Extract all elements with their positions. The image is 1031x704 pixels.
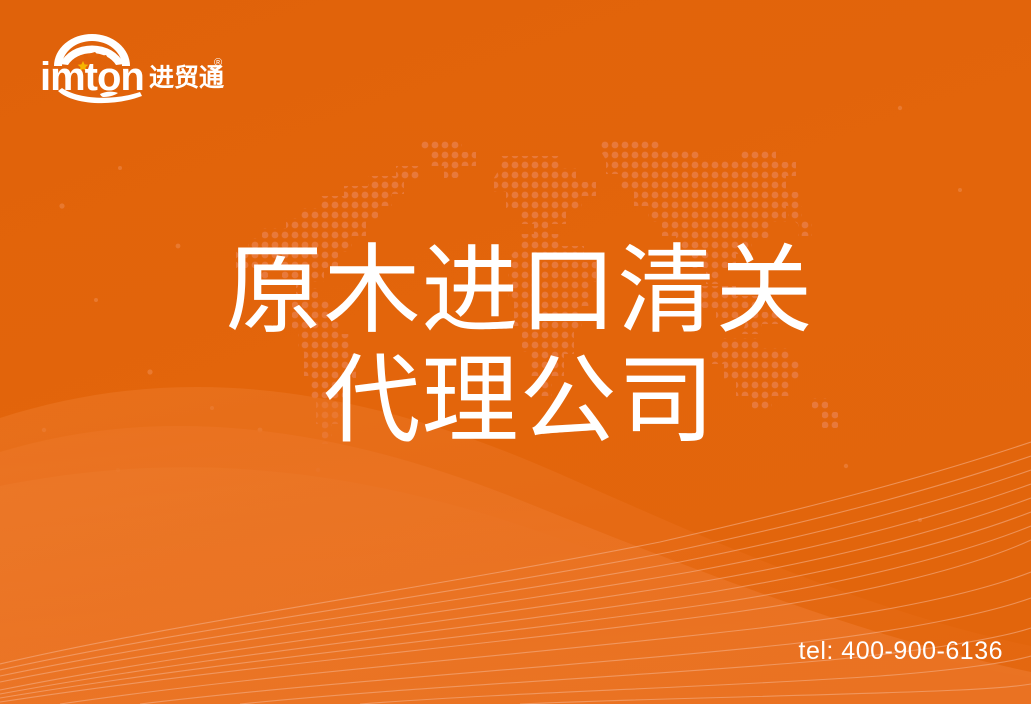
svg-text:进贸通: 进贸通 [149, 64, 224, 92]
logo-cn-wordmark: 进贸通 ® [149, 57, 224, 92]
title-line-2: 代理公司 [0, 346, 1031, 456]
brand-logo-svg: imton 进贸通 ® [36, 28, 226, 104]
title-line-1: 原木进口清关 [0, 236, 1031, 346]
brand-logo[interactable]: imton 进贸通 ® [36, 28, 226, 104]
page-title: 原木进口清关 代理公司 [0, 236, 1031, 455]
svg-text:imton: imton [40, 55, 144, 99]
logo-wordmark: imton [40, 55, 144, 99]
contact-telephone[interactable]: tel: 400-900-6136 [799, 637, 1003, 666]
svg-text:®: ® [214, 57, 222, 69]
poster-canvas: imton 进贸通 ® 原木进口清关 代理公司 tel: 400-900-613… [0, 0, 1031, 704]
